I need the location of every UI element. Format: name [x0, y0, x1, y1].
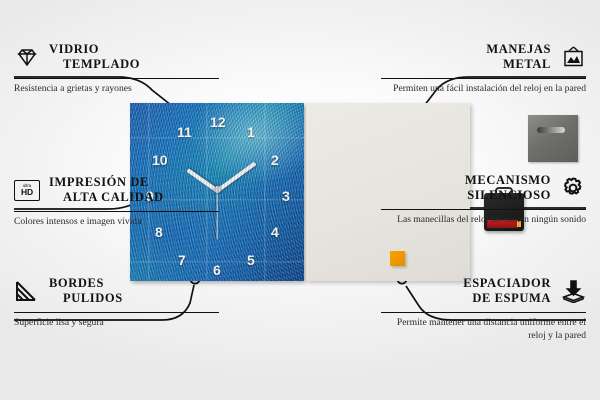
divider	[381, 209, 586, 211]
divider	[14, 78, 219, 80]
divider	[381, 312, 586, 314]
feature-title-line2: SILENCIOSO	[465, 188, 551, 203]
feature-impresion-alta-calidad: ultra HD IMPRESIÓN DE ALTA CALIDAD Color…	[14, 175, 219, 229]
feature-description: Permiten una fácil instalación del reloj…	[381, 83, 586, 96]
clock-numeral: 11	[177, 125, 192, 139]
polished-edge-icon	[14, 279, 40, 303]
clock-numeral: 3	[282, 189, 290, 203]
feature-title: VIDRIO TEMPLADO	[49, 42, 140, 73]
feature-title-line1: BORDES	[49, 276, 104, 290]
feature-title-line2: ALTA CALIDAD	[49, 190, 164, 205]
down-arrow-pad-icon	[560, 279, 586, 303]
diamond-icon	[14, 45, 40, 69]
feature-title-line2: METAL	[486, 57, 551, 72]
feature-vidrio-templado: VIDRIO TEMPLADO Resistencia a grietas y …	[14, 42, 219, 96]
feature-title-line2: PULIDOS	[49, 291, 123, 306]
feature-description: Las manecillas del reloj no emiten ningú…	[381, 214, 586, 227]
feature-title: MANEJAS METAL	[486, 42, 551, 73]
ultra-hd-icon-large-text: HD	[21, 188, 33, 197]
feature-title-line1: IMPRESIÓN DE	[49, 175, 149, 189]
feature-title: MECANISMO SILENCIOSO	[465, 173, 551, 204]
feature-description: Colores intensos e imagen vívida	[14, 216, 219, 229]
feature-title-line2: DE ESPUMA	[463, 291, 551, 306]
feature-title-line1: ESPACIADOR	[463, 276, 551, 290]
clock-numeral: 6	[213, 263, 221, 277]
clock-numeral: 1	[247, 125, 255, 139]
clock-numeral: 10	[152, 153, 168, 167]
feature-bordes-pulidos: BORDES PULIDOS Superficie lisa y segura	[14, 276, 219, 330]
feature-description: Superficie lisa y segura	[14, 317, 219, 330]
divider	[14, 312, 219, 314]
feature-title-line1: MANEJAS	[486, 42, 551, 56]
feature-mecanismo-silencioso: MECANISMO SILENCIOSO Las manecillas del …	[381, 173, 586, 227]
clock-numeral: 5	[247, 253, 255, 267]
feature-manejas-metal: MANEJAS METAL Permiten una fácil instala…	[381, 42, 586, 96]
divider	[14, 211, 219, 213]
clock-minute-hand	[216, 162, 256, 193]
feature-description: Permite mantener una distancia uniforme …	[381, 317, 586, 343]
feature-title: BORDES PULIDOS	[49, 276, 123, 307]
metal-hanger-plate	[528, 115, 578, 162]
hanger-keyhole-slot	[537, 127, 565, 133]
feature-description: Resistencia a grietas y rayones	[14, 83, 219, 96]
clock-numeral: 7	[178, 253, 186, 267]
ultra-hd-icon: ultra HD	[14, 178, 40, 202]
wall-frame-icon	[560, 45, 586, 69]
feature-title-line2: TEMPLADO	[49, 57, 140, 72]
feature-title: ESPACIADOR DE ESPUMA	[463, 276, 551, 307]
clock-numeral: 4	[271, 225, 279, 239]
feature-title-line1: VIDRIO	[49, 42, 99, 56]
divider	[381, 78, 586, 80]
feature-title: IMPRESIÓN DE ALTA CALIDAD	[49, 175, 164, 206]
foam-spacer	[390, 251, 405, 266]
feature-title-line1: MECANISMO	[465, 173, 551, 187]
gear-icon	[560, 176, 586, 200]
feature-espaciador-de-espuma: ESPACIADOR DE ESPUMA Permite mantener un…	[381, 276, 586, 343]
clock-numeral: 2	[271, 153, 279, 167]
clock-numeral: 12	[210, 115, 226, 129]
